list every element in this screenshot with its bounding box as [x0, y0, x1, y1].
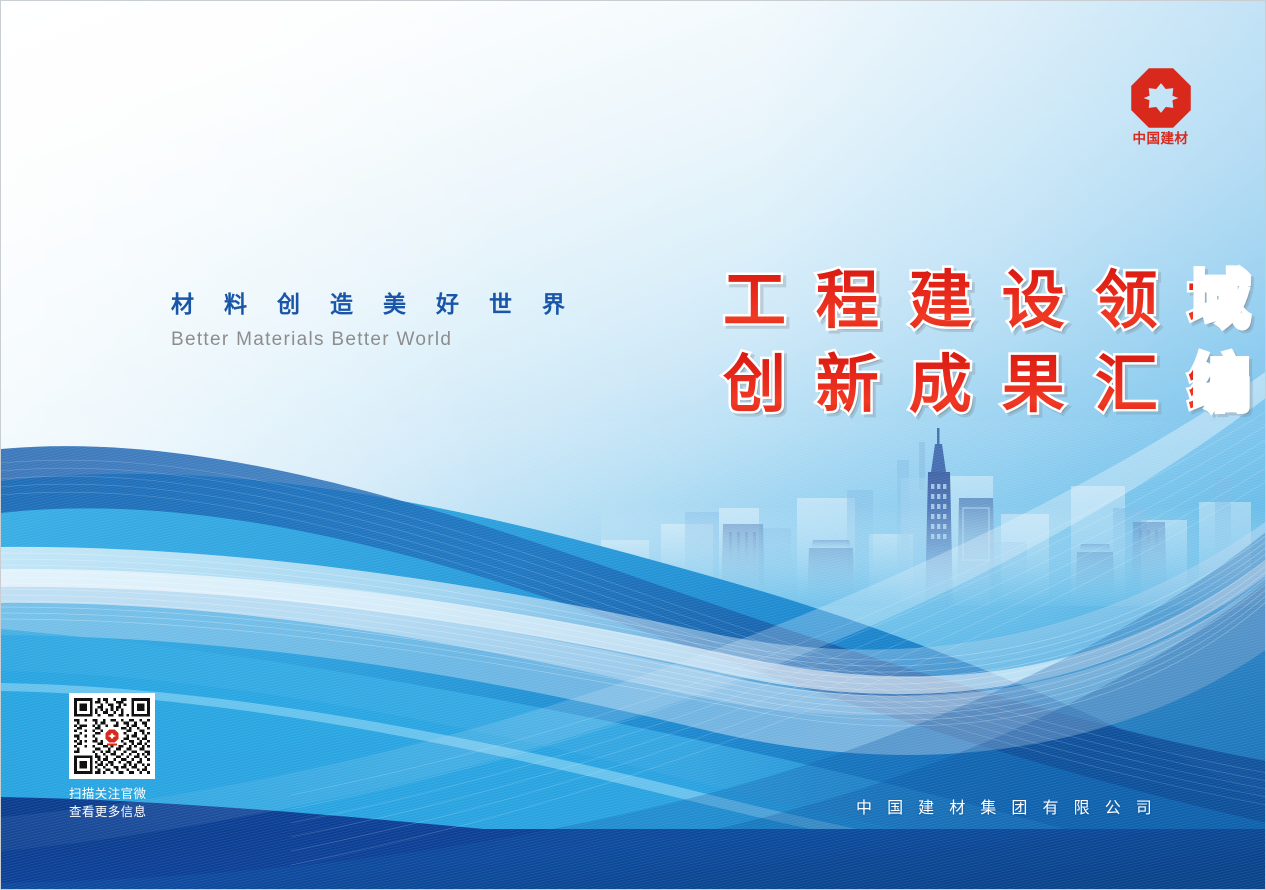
book-cover: 中国建材 材 料 创 造 美 好 世 界 Better Materials Be… — [0, 0, 1266, 890]
cover-title: 工 程 建 设 领 域 工 程 建 设 领 域 工 程 建 设 领 域 创 新 … — [723, 259, 1193, 427]
qr-caption-line-1: 扫描关注官微 — [69, 785, 189, 803]
logo-brand-text: 中国建材 — [1123, 133, 1198, 147]
qr-code-icon[interactable] — [69, 693, 155, 779]
qr-code-block[interactable]: 扫描关注官微 查看更多信息 — [69, 693, 189, 821]
title-line-2: 创 新 成 果 汇 编 — [723, 343, 1193, 427]
title-line-2-wrap: 创 新 成 果 汇 编 创 新 成 果 汇 编 创 新 成 果 汇 编 — [723, 343, 1193, 427]
slogan-block: 材 料 创 造 美 好 世 界 Better Materials Better … — [171, 291, 576, 351]
slogan-chinese: 材 料 创 造 美 好 世 界 — [171, 291, 576, 320]
company-name: 中 国 建 材 集 团 有 限 公 司 — [856, 794, 1157, 818]
title-line-1: 工 程 建 设 领 域 — [723, 259, 1193, 343]
title-line-1-wrap: 工 程 建 设 领 域 工 程 建 设 领 域 工 程 建 设 领 域 — [723, 259, 1193, 343]
qr-caption: 扫描关注官微 查看更多信息 — [69, 785, 189, 821]
octagon-star-logo-icon — [1130, 67, 1192, 129]
slogan-english: Better Materials Better World — [171, 329, 576, 351]
brand-logo: 中国建材 — [1123, 67, 1198, 147]
qr-caption-line-2: 查看更多信息 — [69, 803, 189, 821]
